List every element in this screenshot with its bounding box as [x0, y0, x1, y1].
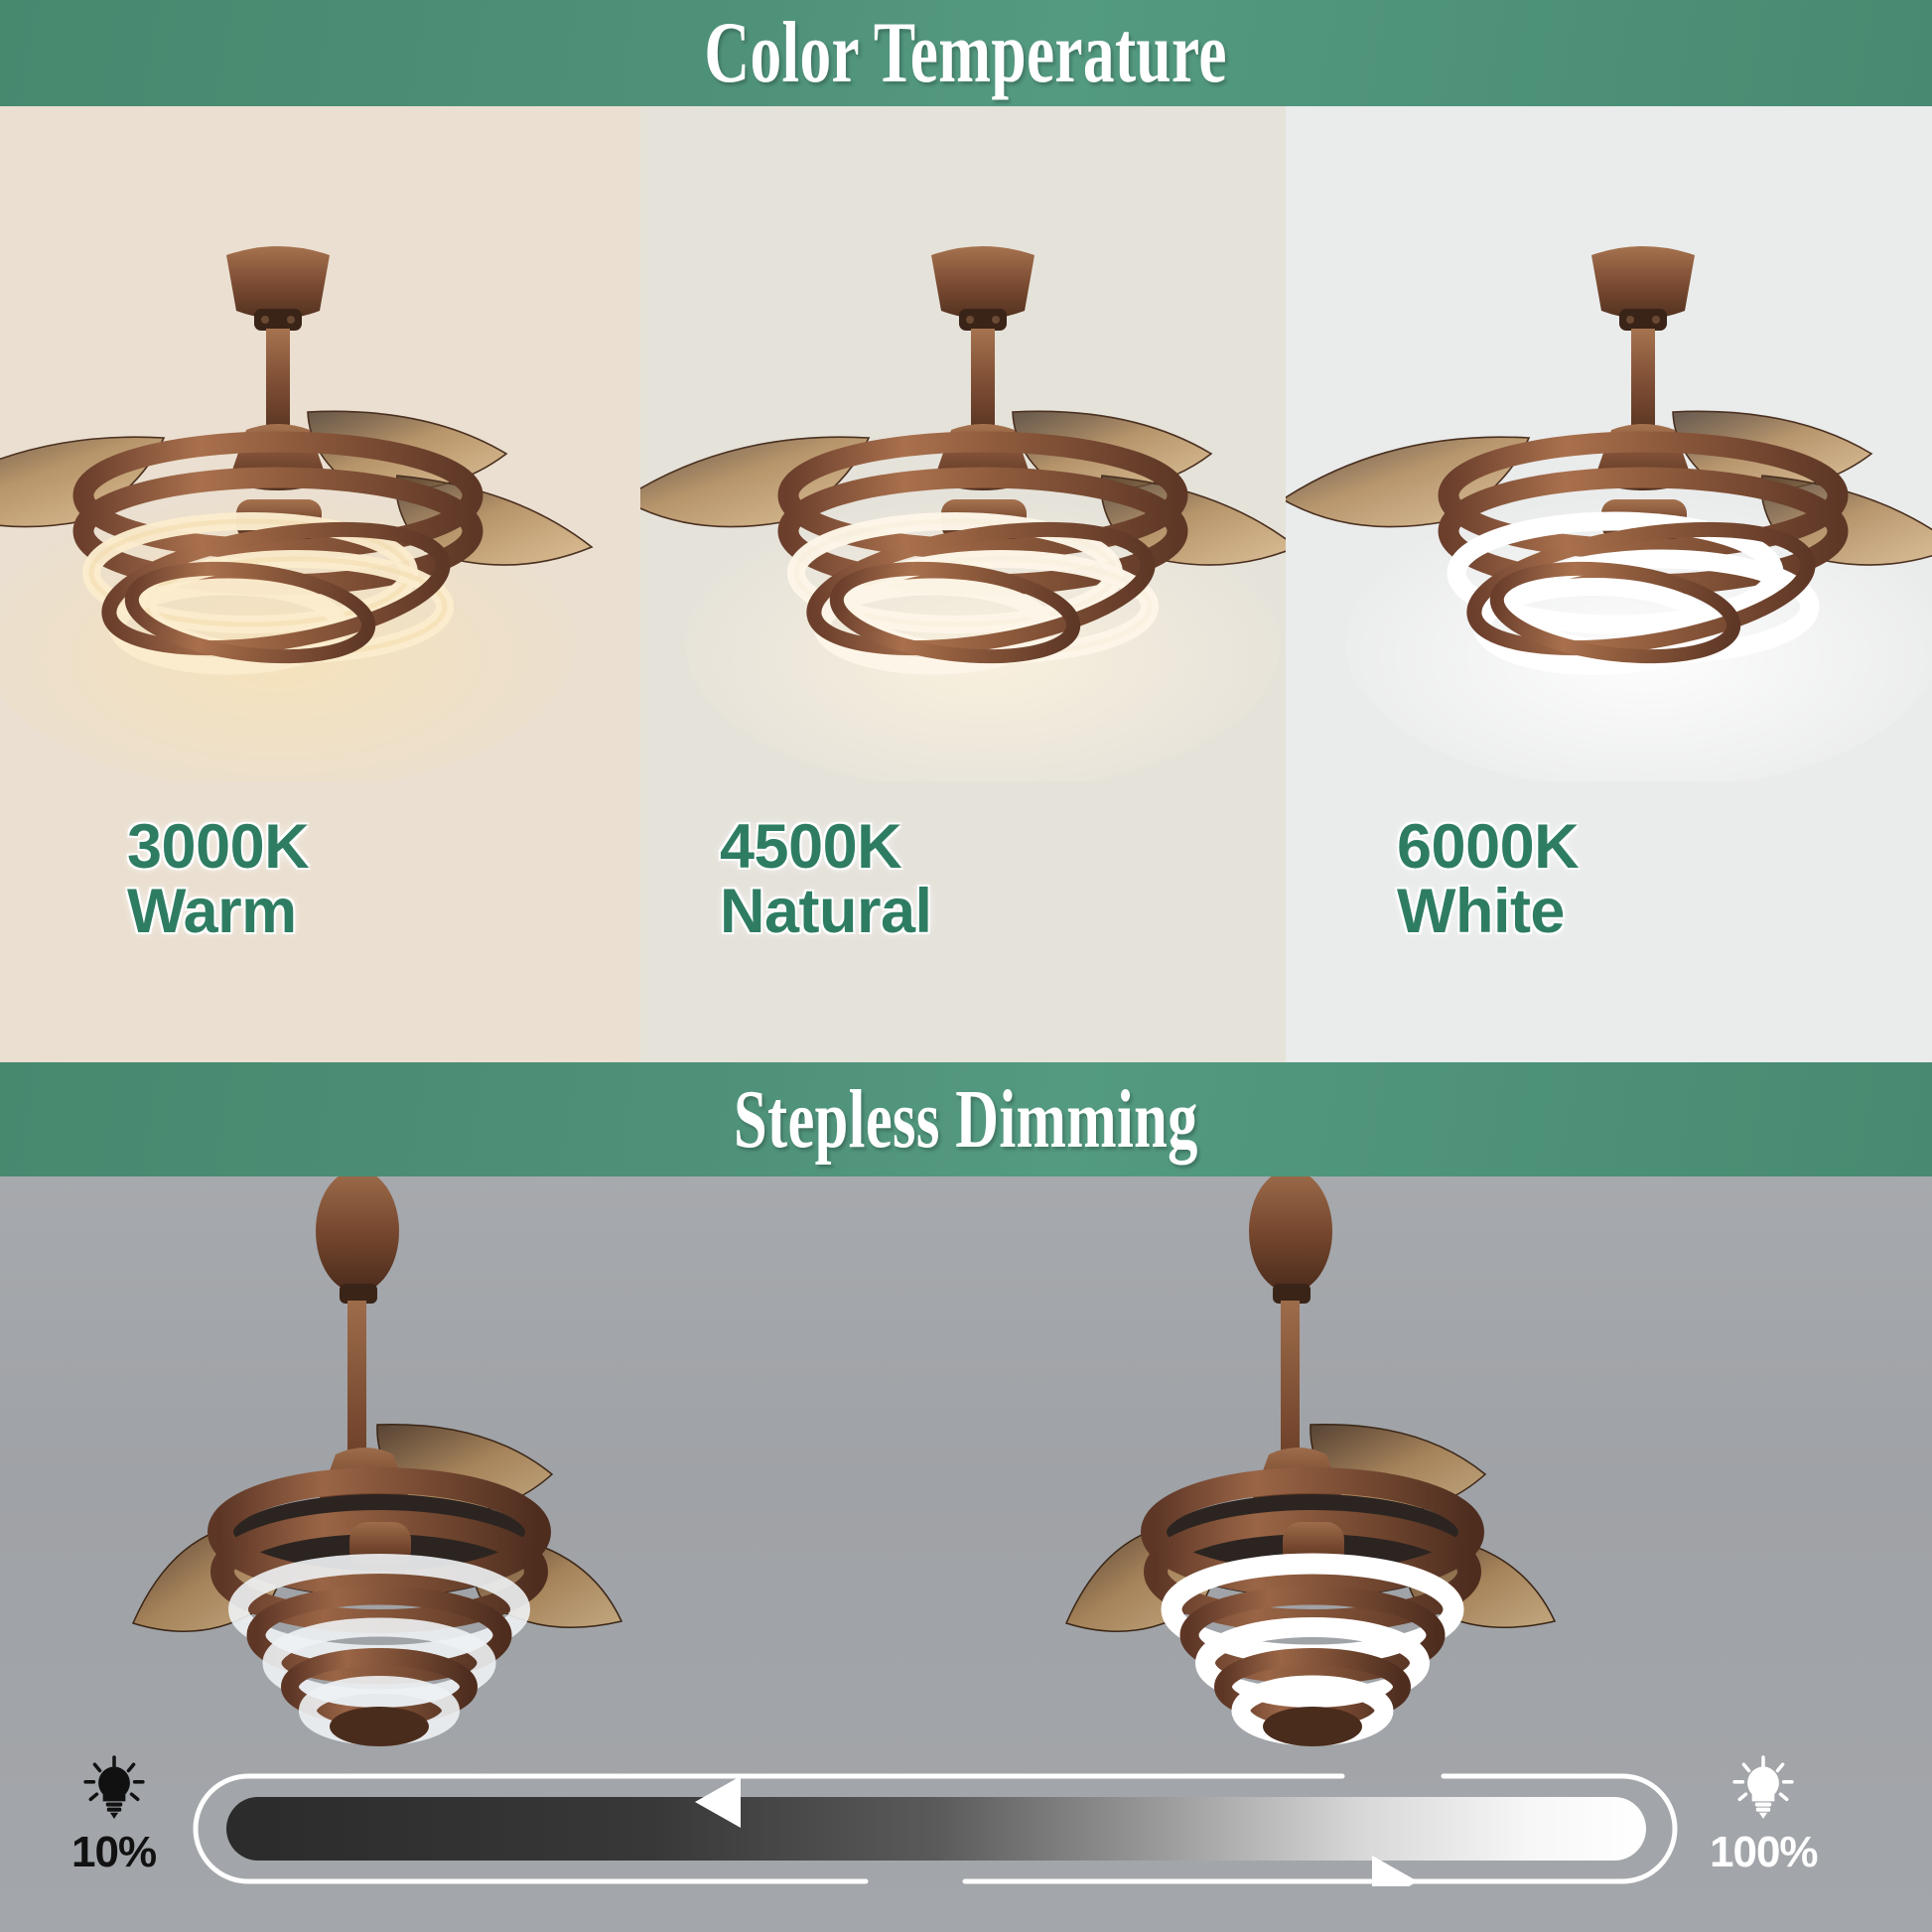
dim-max-group: 100% [1710, 1755, 1818, 1874]
color-temperature-panel-6000k: 6000K White [1286, 106, 1932, 1062]
lightbulb-bright-icon [1730, 1755, 1796, 1821]
banner-stepless-dimming-title: Stepless Dimming [734, 1071, 1198, 1168]
color-temperature-label-6000k: 6000K White [1397, 815, 1579, 945]
color-temperature-label-4500k: 4500K Natural [720, 815, 932, 945]
dimming-slider[interactable]: 10% [0, 1727, 1932, 1932]
ceiling-fan-illustration-6000k [1286, 225, 1932, 781]
banner-color-temperature: Color Temperature [0, 0, 1932, 106]
color-temperature-panel-3000k: 3000K Warm [0, 106, 640, 1062]
dim-max-label: 100% [1710, 1831, 1818, 1874]
banner-stepless-dimming: Stepless Dimming [0, 1062, 1932, 1176]
ceiling-fan-illustration-3000k [0, 225, 635, 781]
lightbulb-dim-icon [81, 1755, 147, 1821]
ceiling-fan-illustration-4500k [640, 225, 1286, 781]
product-infographic: Color Temperature [0, 0, 1932, 1932]
color-temperature-panel-4500k: 4500K Natural [640, 106, 1286, 1062]
color-temperature-section: 3000K Warm [0, 106, 1932, 1062]
color-temperature-label-3000k: 3000K Warm [127, 815, 309, 945]
banner-color-temperature-title: Color Temperature [705, 3, 1227, 103]
dim-min-label: 10% [71, 1831, 156, 1874]
dimming-track[interactable] [191, 1771, 1680, 1886]
dim-min-group: 10% [71, 1755, 156, 1874]
